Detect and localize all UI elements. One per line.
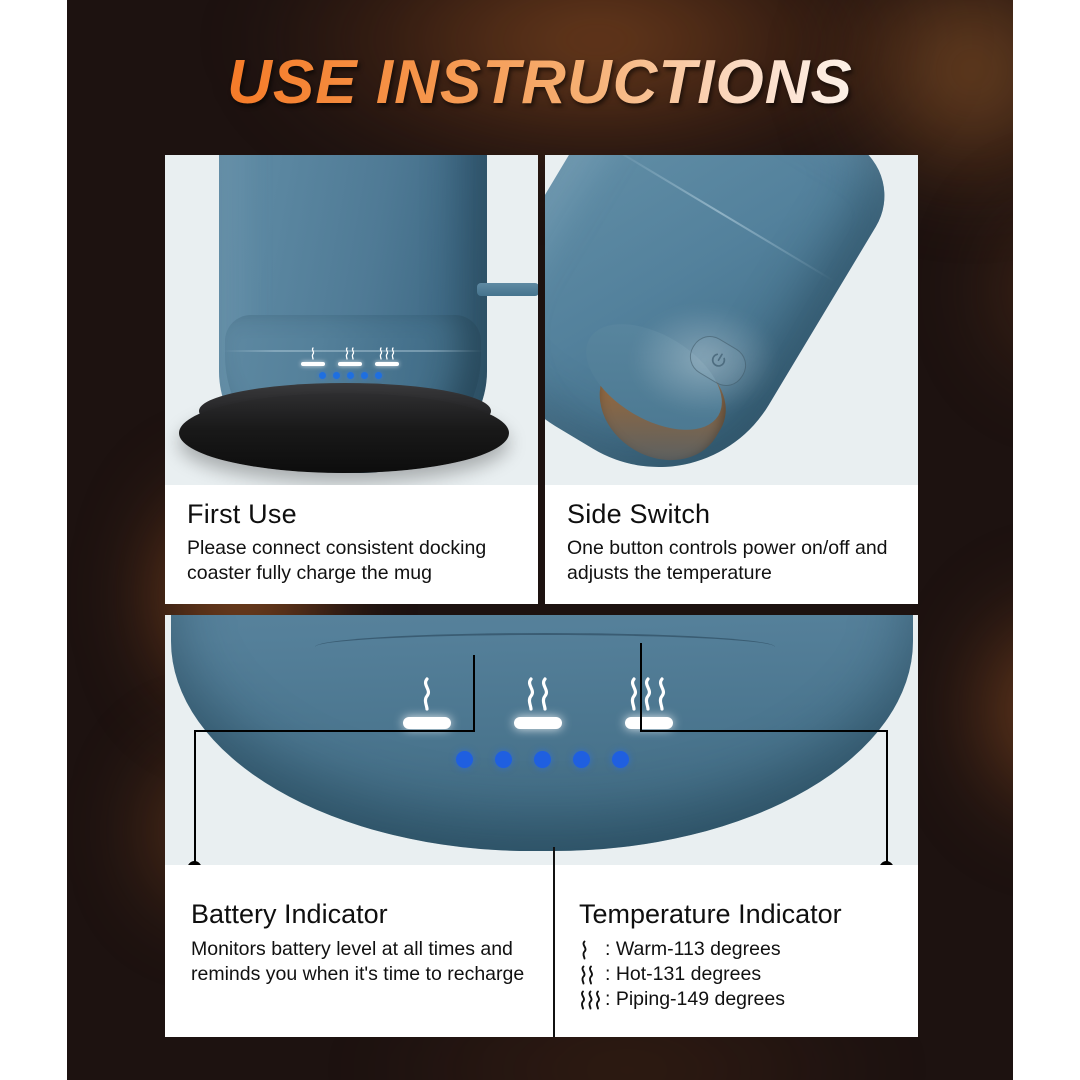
first-use-photo bbox=[165, 155, 538, 485]
temperature-indicator-caption: Temperature Indicator : Warm-113 degrees bbox=[553, 865, 918, 1037]
temp-level-2 bbox=[338, 347, 362, 366]
steam-2-wave-icon bbox=[579, 965, 605, 985]
led-dot bbox=[333, 372, 340, 379]
power-icon bbox=[703, 346, 733, 376]
side-switch-photo bbox=[545, 155, 918, 485]
temp-legend-row-warm: : Warm-113 degrees bbox=[579, 937, 902, 962]
temp-level-1 bbox=[403, 677, 451, 729]
led-dot bbox=[375, 372, 382, 379]
battery-indicator-heading: Battery Indicator bbox=[191, 899, 537, 930]
first-use-caption: First Use Please connect consistent dock… bbox=[165, 485, 538, 598]
led-dot bbox=[612, 751, 629, 768]
led-dot bbox=[319, 372, 326, 379]
side-switch-body: One button controls power on/off and adj… bbox=[567, 536, 900, 586]
panel-side-switch: Side Switch One button controls power on… bbox=[545, 155, 918, 604]
temp-bar bbox=[301, 362, 325, 366]
steam-2-wave-icon bbox=[342, 347, 358, 360]
led-dot bbox=[534, 751, 551, 768]
led-dot bbox=[347, 372, 354, 379]
mug-seam-line bbox=[315, 633, 775, 661]
first-use-heading: First Use bbox=[187, 499, 520, 530]
steam-1-wave-icon bbox=[307, 347, 319, 360]
temp-legend-label-hot: : Hot-131 degrees bbox=[605, 962, 761, 987]
led-dot bbox=[573, 751, 590, 768]
steam-3-wave-icon bbox=[377, 347, 397, 360]
battery-indicator-caption: Battery Indicator Monitors battery level… bbox=[165, 865, 553, 1037]
side-switch-heading: Side Switch bbox=[567, 499, 900, 530]
temp-bar bbox=[375, 362, 399, 366]
battery-indicator-body: Monitors battery level at all times and … bbox=[191, 937, 537, 987]
mug-handle bbox=[477, 283, 538, 296]
temp-level-1 bbox=[301, 347, 325, 366]
steam-3-wave-icon bbox=[626, 677, 672, 711]
indicator-captions: Battery Indicator Monitors battery level… bbox=[165, 865, 918, 1037]
charging-coaster bbox=[179, 393, 509, 473]
led-dot bbox=[456, 751, 473, 768]
battery-led-dots bbox=[403, 751, 673, 768]
bokeh-right-lower bbox=[957, 560, 1013, 860]
temp-bar bbox=[403, 717, 451, 729]
steam-2-wave-icon bbox=[521, 677, 555, 711]
steam-1-wave-icon bbox=[579, 940, 605, 960]
infographic-root: USE INSTRUCTIONS bbox=[0, 0, 1080, 1080]
temperature-indicator-heading: Temperature Indicator bbox=[579, 899, 902, 930]
temp-legend-label-piping: : Piping-149 degrees bbox=[605, 987, 785, 1012]
temp-legend-row-piping: : Piping-149 degrees bbox=[579, 987, 902, 1012]
steam-3-wave-icon bbox=[579, 990, 605, 1010]
led-dot bbox=[361, 372, 368, 379]
side-switch-caption: Side Switch One button controls power on… bbox=[545, 485, 918, 598]
temp-level-3 bbox=[375, 347, 399, 366]
indicator-cluster bbox=[403, 677, 673, 768]
led-dot bbox=[495, 751, 512, 768]
temp-bar bbox=[514, 717, 562, 729]
temp-bar bbox=[625, 717, 673, 729]
battery-led-dots bbox=[300, 372, 400, 379]
temp-level-3 bbox=[625, 677, 673, 729]
steam-1-wave-icon bbox=[417, 677, 437, 711]
page-title: USE INSTRUCTIONS bbox=[67, 44, 1013, 122]
temperature-indicator-lights bbox=[403, 677, 673, 729]
temp-level-2 bbox=[514, 677, 562, 729]
temperature-bars bbox=[300, 347, 400, 366]
temp-legend-label-warm: : Warm-113 degrees bbox=[605, 937, 781, 962]
panel-first-use: First Use Please connect consistent dock… bbox=[165, 155, 538, 604]
panel-indicators: Battery Indicator Monitors battery level… bbox=[165, 615, 918, 1037]
temp-bar bbox=[338, 362, 362, 366]
mug-indicator-cluster bbox=[300, 347, 400, 379]
first-use-body: Please connect consistent docking coaste… bbox=[187, 536, 520, 586]
temp-legend-row-hot: : Hot-131 degrees bbox=[579, 962, 902, 987]
indicators-photo bbox=[165, 615, 918, 865]
